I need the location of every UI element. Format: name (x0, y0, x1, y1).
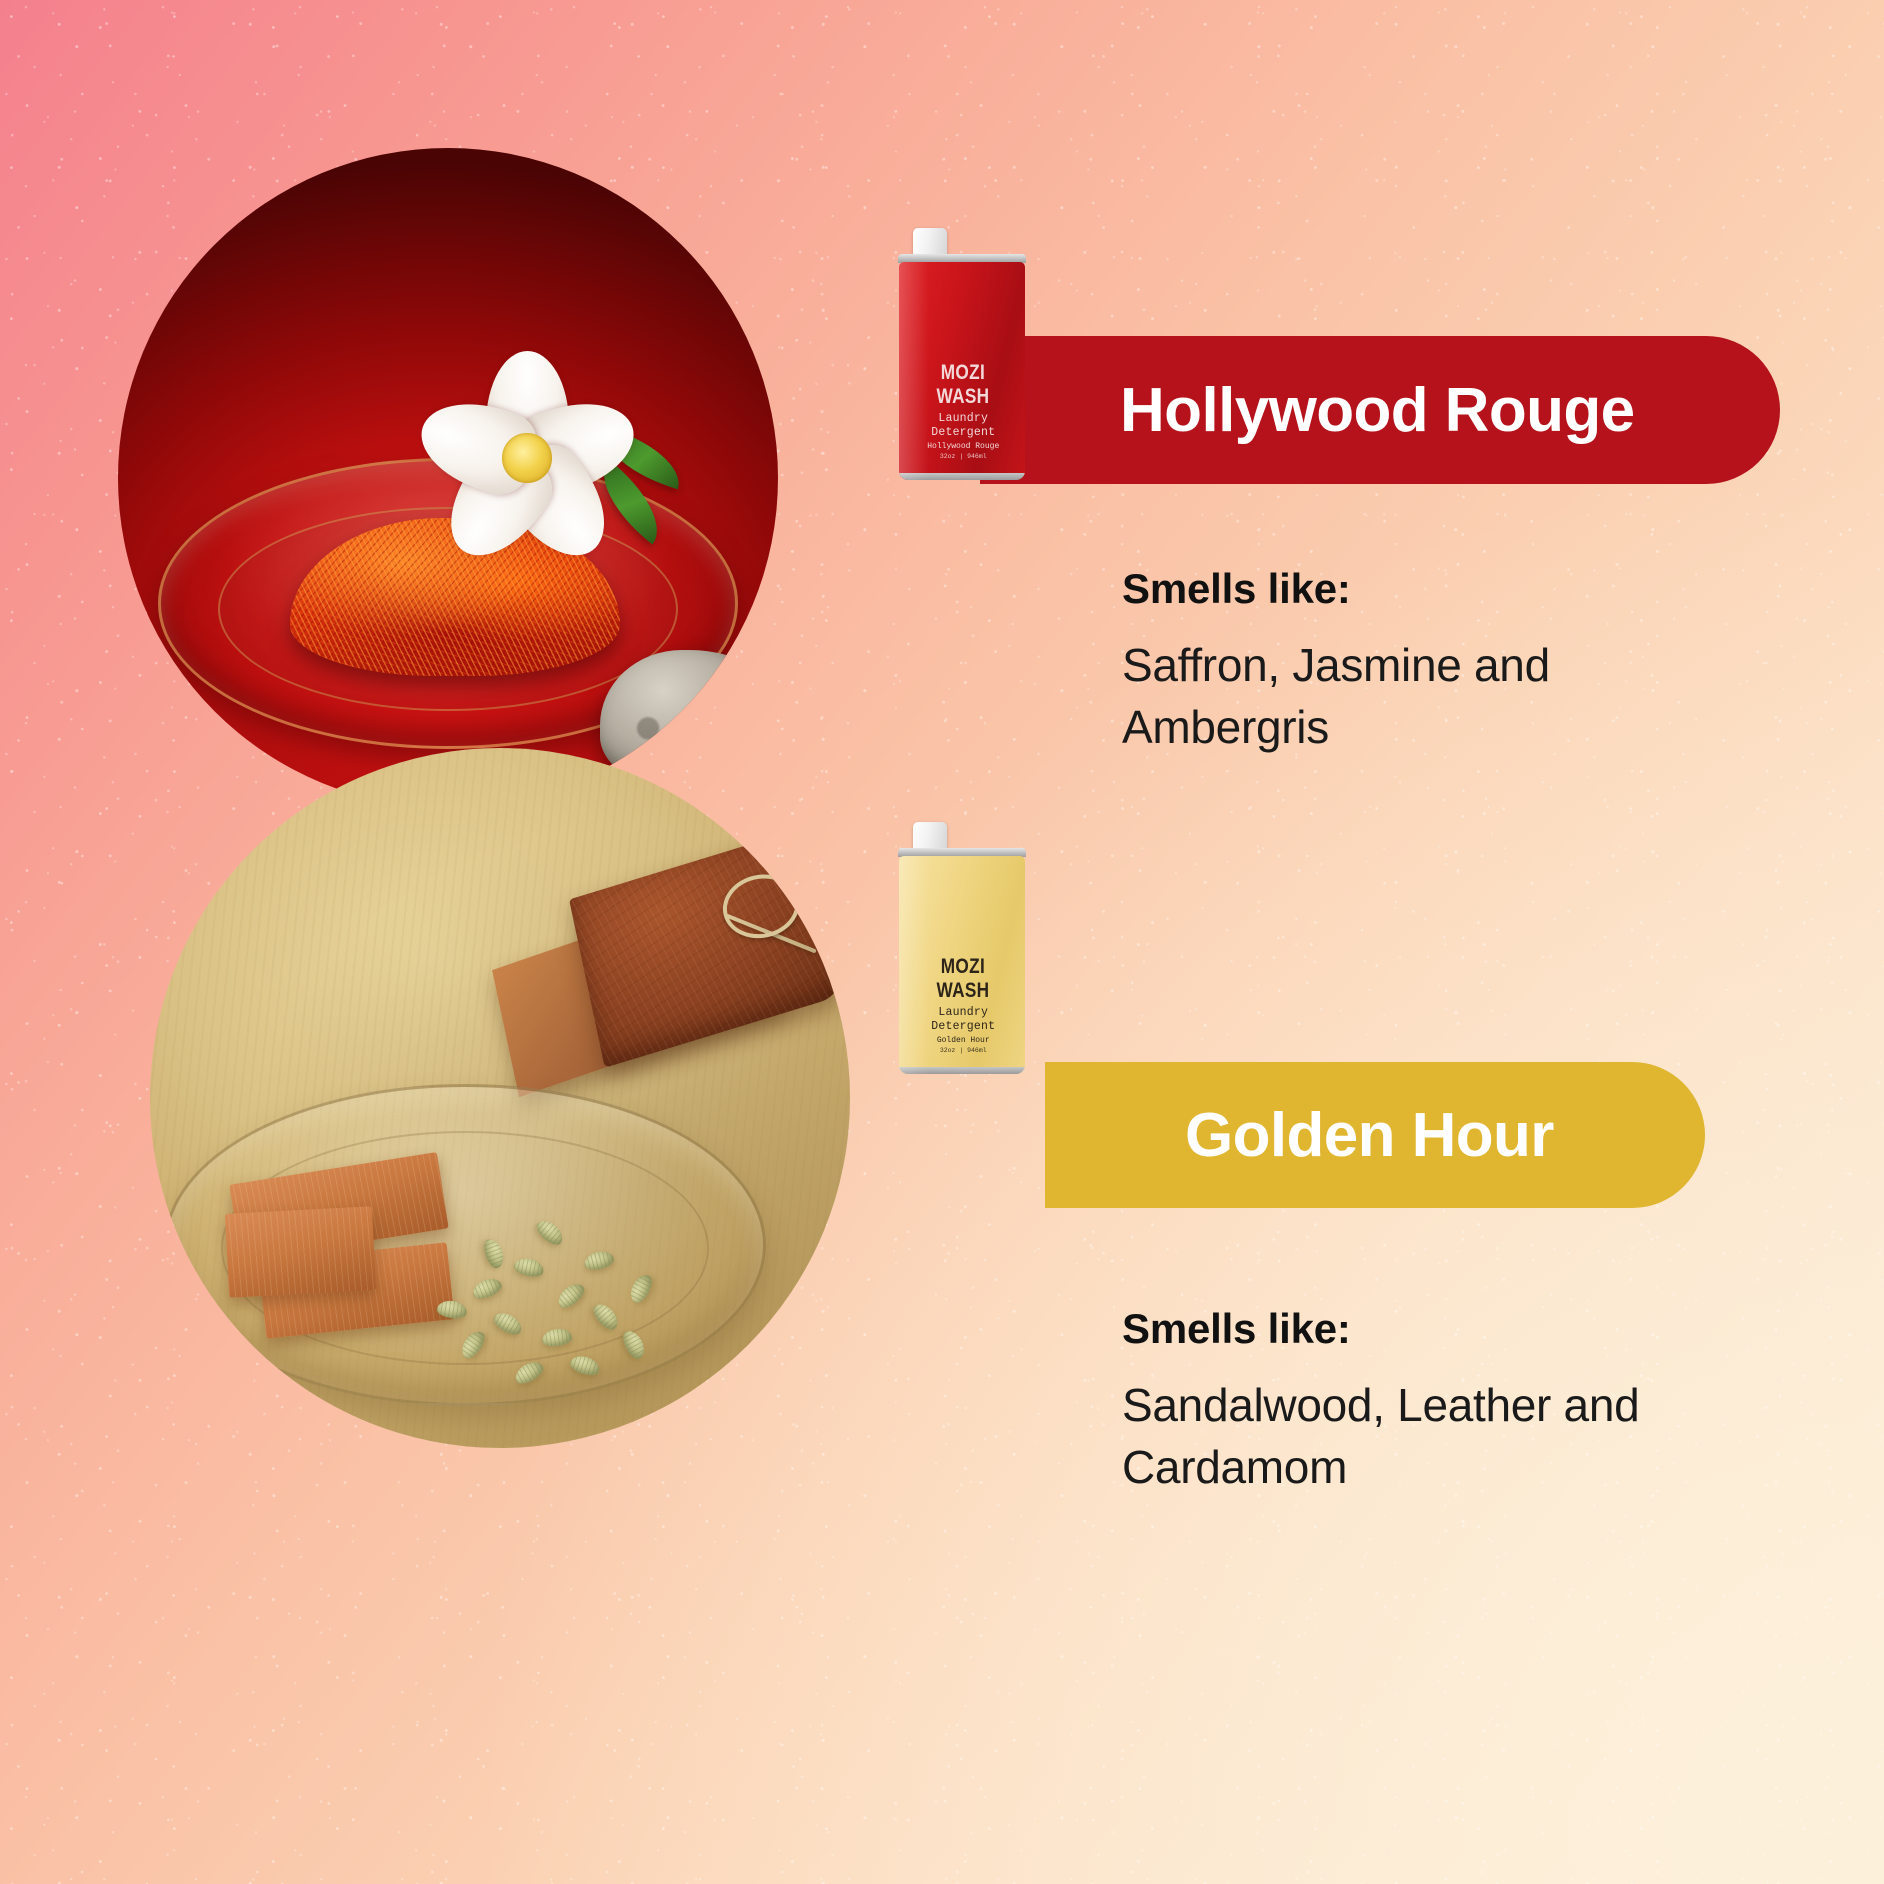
bottle-product-type: Laundry Detergent (909, 1006, 1017, 1032)
bottle-scent-name: Hollywood Rouge (909, 442, 1017, 451)
product-scent-comparison-card: Hollywood Rouge Golden Hour MOZI WASH La… (0, 0, 1884, 1884)
scent-notes-text: Sandalwood, Leather and Cardamom (1122, 1375, 1712, 1498)
bottle-label: MOZI WASH Laundry Detergent Hollywood Ro… (909, 361, 1017, 460)
leather-pouch (496, 829, 850, 1101)
bottle-product-type: Laundry Detergent (909, 412, 1017, 438)
jasmine-stamen (502, 433, 552, 483)
bottle-body: MOZI WASH Laundry Detergent Golden Hour … (899, 856, 1024, 1074)
product-bottle-golden-hour: MOZI WASH Laundry Detergent Golden Hour … (898, 822, 1026, 1074)
scent-notes-golden-hour: Smells like: Sandalwood, Leather and Car… (1122, 1305, 1712, 1498)
scent-title-pill-hollywood-rouge: Hollywood Rouge (980, 336, 1780, 484)
bottle-brand-name: MOZI WASH (919, 361, 1007, 409)
smells-like-label: Smells like: (1122, 565, 1712, 613)
bottle-base (899, 1067, 1024, 1074)
smells-like-label: Smells like: (1122, 1305, 1712, 1353)
bottle-volume: 32oz | 946ml (909, 1047, 1017, 1054)
sandalwood-block (225, 1206, 376, 1298)
bottle-volume: 32oz | 946ml (909, 453, 1017, 460)
scent-title-hollywood-rouge: Hollywood Rouge (1120, 375, 1635, 446)
bottle-body: MOZI WASH Laundry Detergent Hollywood Ro… (899, 262, 1024, 480)
bottle-base (899, 473, 1024, 480)
bottle-label: MOZI WASH Laundry Detergent Golden Hour … (909, 955, 1017, 1054)
scent-notes-hollywood-rouge: Smells like: Saffron, Jasmine and Amberg… (1122, 565, 1712, 758)
scent-title-pill-golden-hour: Golden Hour (1045, 1062, 1705, 1208)
product-bottle-hollywood-rouge: MOZI WASH Laundry Detergent Hollywood Ro… (898, 228, 1026, 480)
scent-notes-text: Saffron, Jasmine and Ambergris (1122, 635, 1712, 758)
jasmine-flower (428, 359, 626, 557)
bottle-scent-name: Golden Hour (909, 1036, 1017, 1045)
scent-photo-hollywood-rouge (118, 148, 778, 808)
scent-title-golden-hour: Golden Hour (1185, 1100, 1554, 1171)
bottle-brand-name: MOZI WASH (919, 955, 1007, 1003)
scent-photo-golden-hour (150, 748, 850, 1448)
